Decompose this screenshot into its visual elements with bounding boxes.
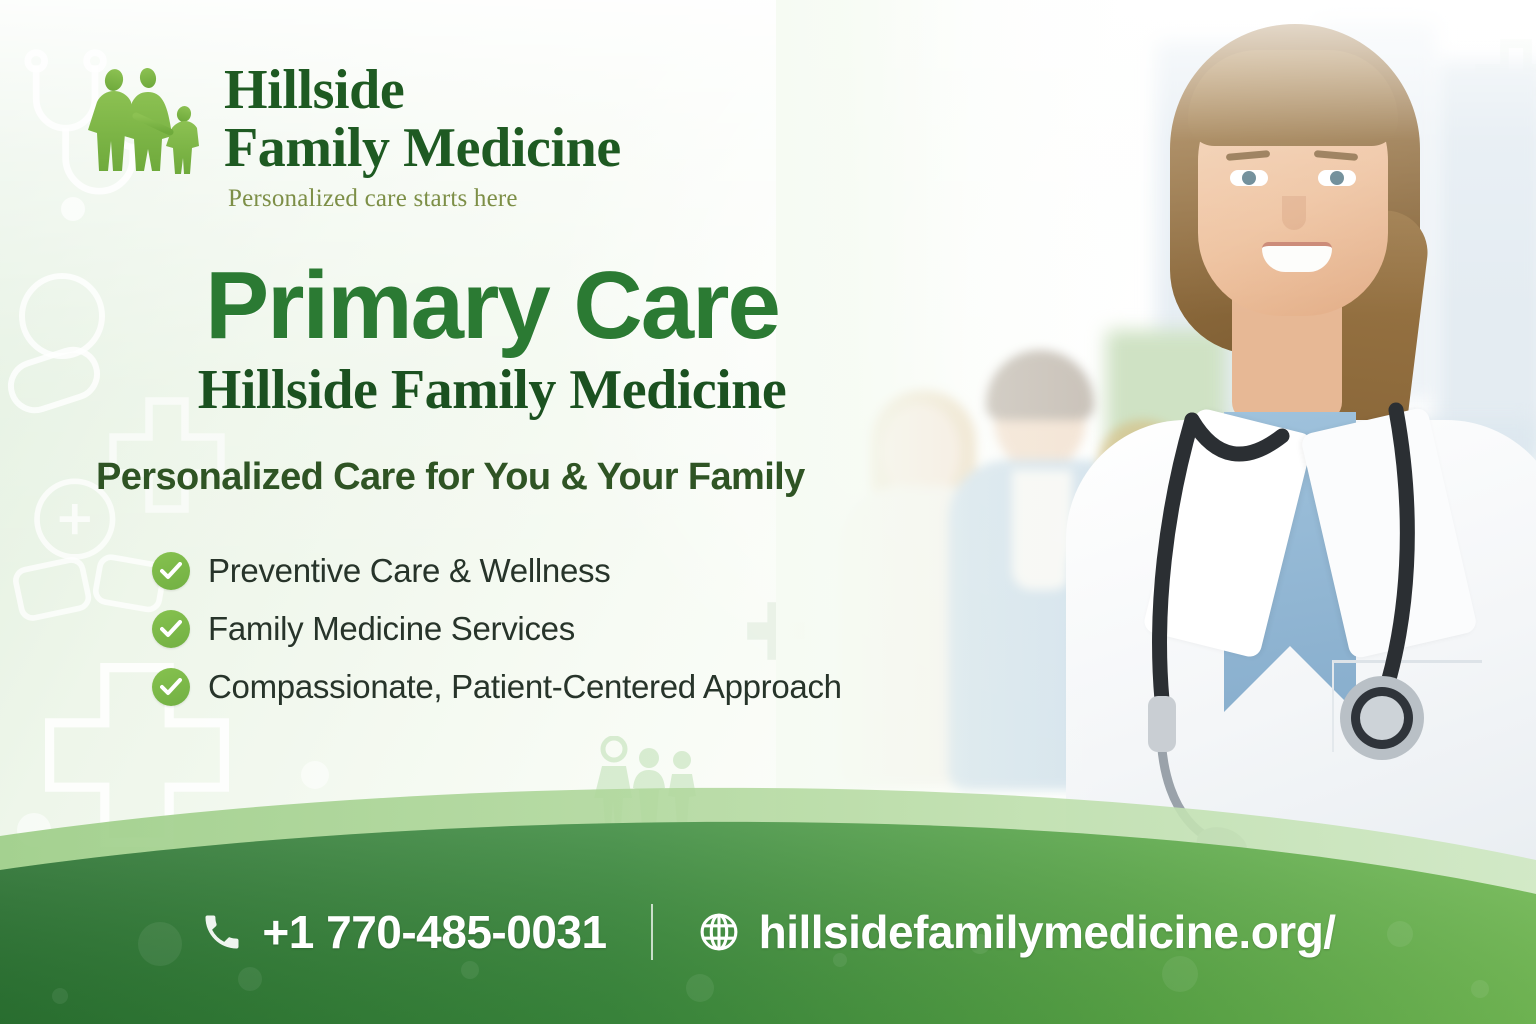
hero-tagline: Personalized Care for You & Your Family [96, 456, 896, 499]
phone-number: +1 770-485-0031 [262, 905, 606, 959]
footer-contact-bar: +1 770-485-0031 hillsidefamilymedicine.o… [0, 839, 1536, 1024]
list-item: Preventive Care & Wellness [152, 552, 842, 590]
hero-subheadline: Hillside Family Medicine [142, 360, 842, 422]
list-item: Family Medicine Services [152, 610, 842, 648]
brand-tagline: Personalized care starts here [228, 185, 621, 213]
check-circle-icon [152, 552, 190, 590]
hero-copy: Primary Care Hillside Family Medicine Pe… [96, 258, 896, 499]
dot-watermark-icon [60, 196, 86, 222]
phone-icon [200, 910, 244, 954]
list-item-label: Compassionate, Patient-Centered Approach [208, 668, 842, 706]
brand-name-line-1: Hillside [224, 62, 621, 120]
family-father-shirt [1012, 470, 1072, 590]
doctor-eye-left [1230, 170, 1268, 186]
website-url: hillsidefamilymedicine.org/ [759, 905, 1336, 959]
website-contact[interactable]: hillsidefamilymedicine.org/ [697, 905, 1336, 959]
phone-contact[interactable]: +1 770-485-0031 [200, 905, 606, 959]
benefits-list: Preventive Care & Wellness Family Medici… [152, 552, 842, 726]
list-item-label: Family Medicine Services [208, 610, 575, 648]
footer-divider [651, 904, 653, 960]
brand-logo: Hillside Family Medicine Personalized ca… [84, 60, 621, 213]
doctor-eye-right [1318, 170, 1356, 186]
check-circle-icon [152, 668, 190, 706]
brand-name-line-2: Family Medicine [224, 120, 621, 178]
doctor-photo [1076, 20, 1536, 880]
family-figures-icon [84, 66, 206, 178]
doctor-smile [1262, 242, 1332, 272]
list-item-label: Preventive Care & Wellness [208, 552, 610, 590]
list-item: Compassionate, Patient-Centered Approach [152, 668, 842, 706]
globe-icon [697, 910, 741, 954]
advertisement-banner: Hillside Family Medicine Personalized ca… [0, 0, 1536, 1024]
doctor-hair-front [1188, 50, 1398, 146]
check-circle-icon [152, 610, 190, 648]
doctor-nose [1282, 196, 1306, 230]
hero-headline: Primary Care [142, 258, 842, 354]
